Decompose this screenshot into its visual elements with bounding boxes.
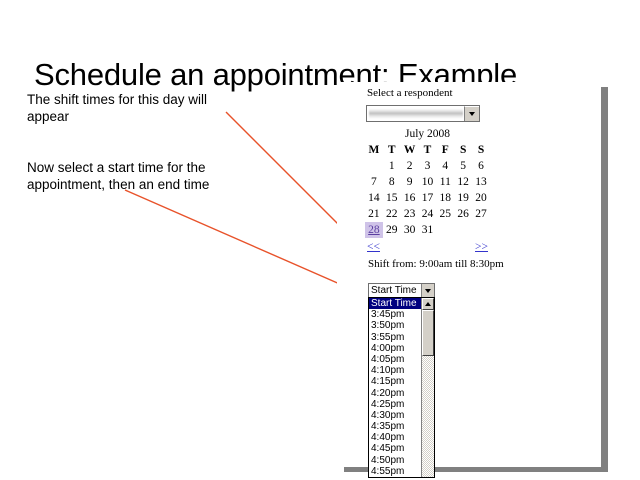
calendar-weekday: T xyxy=(419,142,437,158)
calendar-weekday: M xyxy=(365,142,383,158)
calendar-day[interactable]: 4 xyxy=(436,158,454,174)
calendar-day[interactable]: 2 xyxy=(401,158,419,174)
list-item[interactable]: 4:10pm xyxy=(369,365,421,376)
calendar-weekday: F xyxy=(436,142,454,158)
list-item[interactable]: 4:25pm xyxy=(369,399,421,410)
calendar-weekday-row: M T W T F S S xyxy=(365,142,490,158)
list-item[interactable]: 4:20pm xyxy=(369,388,421,399)
calendar-day[interactable]: 5 xyxy=(454,158,472,174)
calendar-day[interactable]: 7 xyxy=(365,174,383,190)
calendar-weekday: S xyxy=(472,142,490,158)
calendar-day[interactable]: 11 xyxy=(436,174,454,190)
calendar-day[interactable]: 30 xyxy=(401,222,419,238)
calendar-day xyxy=(436,222,454,238)
calendar-next-month-link[interactable]: >> xyxy=(475,241,488,253)
shift-hours-text: Shift from: 9:00am till 8:30pm xyxy=(368,258,504,270)
list-item[interactable]: 3:50pm xyxy=(369,320,421,331)
scrollbar-thumb[interactable] xyxy=(422,310,434,356)
chevron-up-icon[interactable] xyxy=(422,298,434,310)
scrollbar-track[interactable] xyxy=(422,356,434,477)
calendar-day[interactable]: 26 xyxy=(454,206,472,222)
start-time-selected-value: Start Time xyxy=(369,284,421,297)
calendar-week-row: 1 2 3 4 5 6 xyxy=(365,158,490,174)
start-time-select[interactable]: Start Time xyxy=(368,283,435,298)
arrow-to-start-time xyxy=(125,190,358,292)
chevron-down-icon[interactable] xyxy=(421,284,434,297)
calendar-day[interactable]: 1 xyxy=(383,158,401,174)
calendar-day[interactable]: 20 xyxy=(472,190,490,206)
calendar-day[interactable]: 8 xyxy=(383,174,401,190)
list-item[interactable]: 4:05pm xyxy=(369,354,421,365)
calendar-day xyxy=(454,222,472,238)
calendar-week-row: 21 22 23 24 25 26 27 xyxy=(365,206,490,222)
start-time-option-list: Start Time 3:45pm 3:50pm 3:55pm 4:00pm 4… xyxy=(369,298,421,477)
list-item[interactable]: 3:55pm xyxy=(369,332,421,343)
calendar-day[interactable]: 27 xyxy=(472,206,490,222)
calendar-day[interactable]: 23 xyxy=(401,206,419,222)
calendar-day-selected[interactable]: 28 xyxy=(365,222,383,238)
calendar-day[interactable]: 15 xyxy=(383,190,401,206)
respondent-label: Select a respondent xyxy=(367,87,453,99)
list-item[interactable]: 3:45pm xyxy=(369,309,421,320)
list-item[interactable]: 4:35pm xyxy=(369,421,421,432)
list-item[interactable]: 4:50pm xyxy=(369,455,421,466)
calendar-day[interactable]: 16 xyxy=(401,190,419,206)
list-item[interactable]: Start Time xyxy=(369,298,421,309)
calendar-week-row: 28 29 30 31 xyxy=(365,222,490,238)
respondent-selected-value xyxy=(369,108,463,119)
chevron-down-icon[interactable] xyxy=(464,106,479,121)
calendar-month-label: July 2008 xyxy=(365,128,490,142)
scrollbar[interactable] xyxy=(421,298,434,477)
panel-shadow-right xyxy=(601,87,608,472)
calendar-day[interactable]: 24 xyxy=(419,206,437,222)
calendar-weekday: W xyxy=(401,142,419,158)
calendar-week-row: 14 15 16 17 18 19 20 xyxy=(365,190,490,206)
start-time-dropdown-list[interactable]: Start Time 3:45pm 3:50pm 3:55pm 4:00pm 4… xyxy=(368,297,435,478)
calendar-day[interactable]: 22 xyxy=(383,206,401,222)
list-item[interactable]: 4:45pm xyxy=(369,443,421,454)
list-item[interactable]: 4:30pm xyxy=(369,410,421,421)
calendar-week-row: 7 8 9 10 11 12 13 xyxy=(365,174,490,190)
calendar-day[interactable]: 17 xyxy=(419,190,437,206)
calendar-day[interactable]: 31 xyxy=(419,222,437,238)
calendar-day xyxy=(365,158,383,174)
calendar-day[interactable]: 9 xyxy=(401,174,419,190)
list-item[interactable]: 4:55pm xyxy=(369,466,421,477)
embedded-webpage-screenshot: Select a respondent July 2008 M T W T F … xyxy=(337,82,601,467)
list-item[interactable]: 4:00pm xyxy=(369,343,421,354)
calendar-day[interactable]: 14 xyxy=(365,190,383,206)
callout-select-start-time: Now select a start time for the appointm… xyxy=(27,159,242,193)
list-item[interactable]: 4:40pm xyxy=(369,432,421,443)
calendar-day[interactable]: 18 xyxy=(436,190,454,206)
calendar-weekday: T xyxy=(383,142,401,158)
calendar-table: M T W T F S S 1 2 3 4 xyxy=(365,142,490,238)
calendar-prev-month-link[interactable]: << xyxy=(367,241,380,253)
calendar-weekday: S xyxy=(454,142,472,158)
calendar-day[interactable]: 13 xyxy=(472,174,490,190)
slide-canvas: Schedule an appointment: Example The shi… xyxy=(0,0,640,480)
list-item[interactable]: 4:15pm xyxy=(369,376,421,387)
respondent-select[interactable] xyxy=(366,105,480,122)
calendar-widget: July 2008 M T W T F S S xyxy=(365,128,490,257)
calendar-day[interactable]: 3 xyxy=(419,158,437,174)
calendar-day[interactable]: 19 xyxy=(454,190,472,206)
calendar-day[interactable]: 10 xyxy=(419,174,437,190)
callout-shift-times: The shift times for this day will appear xyxy=(27,91,242,125)
calendar-day[interactable]: 25 xyxy=(436,206,454,222)
calendar-navigation: << >> xyxy=(365,241,490,257)
calendar-day[interactable]: 12 xyxy=(454,174,472,190)
calendar-day[interactable]: 6 xyxy=(472,158,490,174)
calendar-day[interactable]: 29 xyxy=(383,222,401,238)
calendar-day[interactable]: 21 xyxy=(365,206,383,222)
calendar-day xyxy=(472,222,490,238)
